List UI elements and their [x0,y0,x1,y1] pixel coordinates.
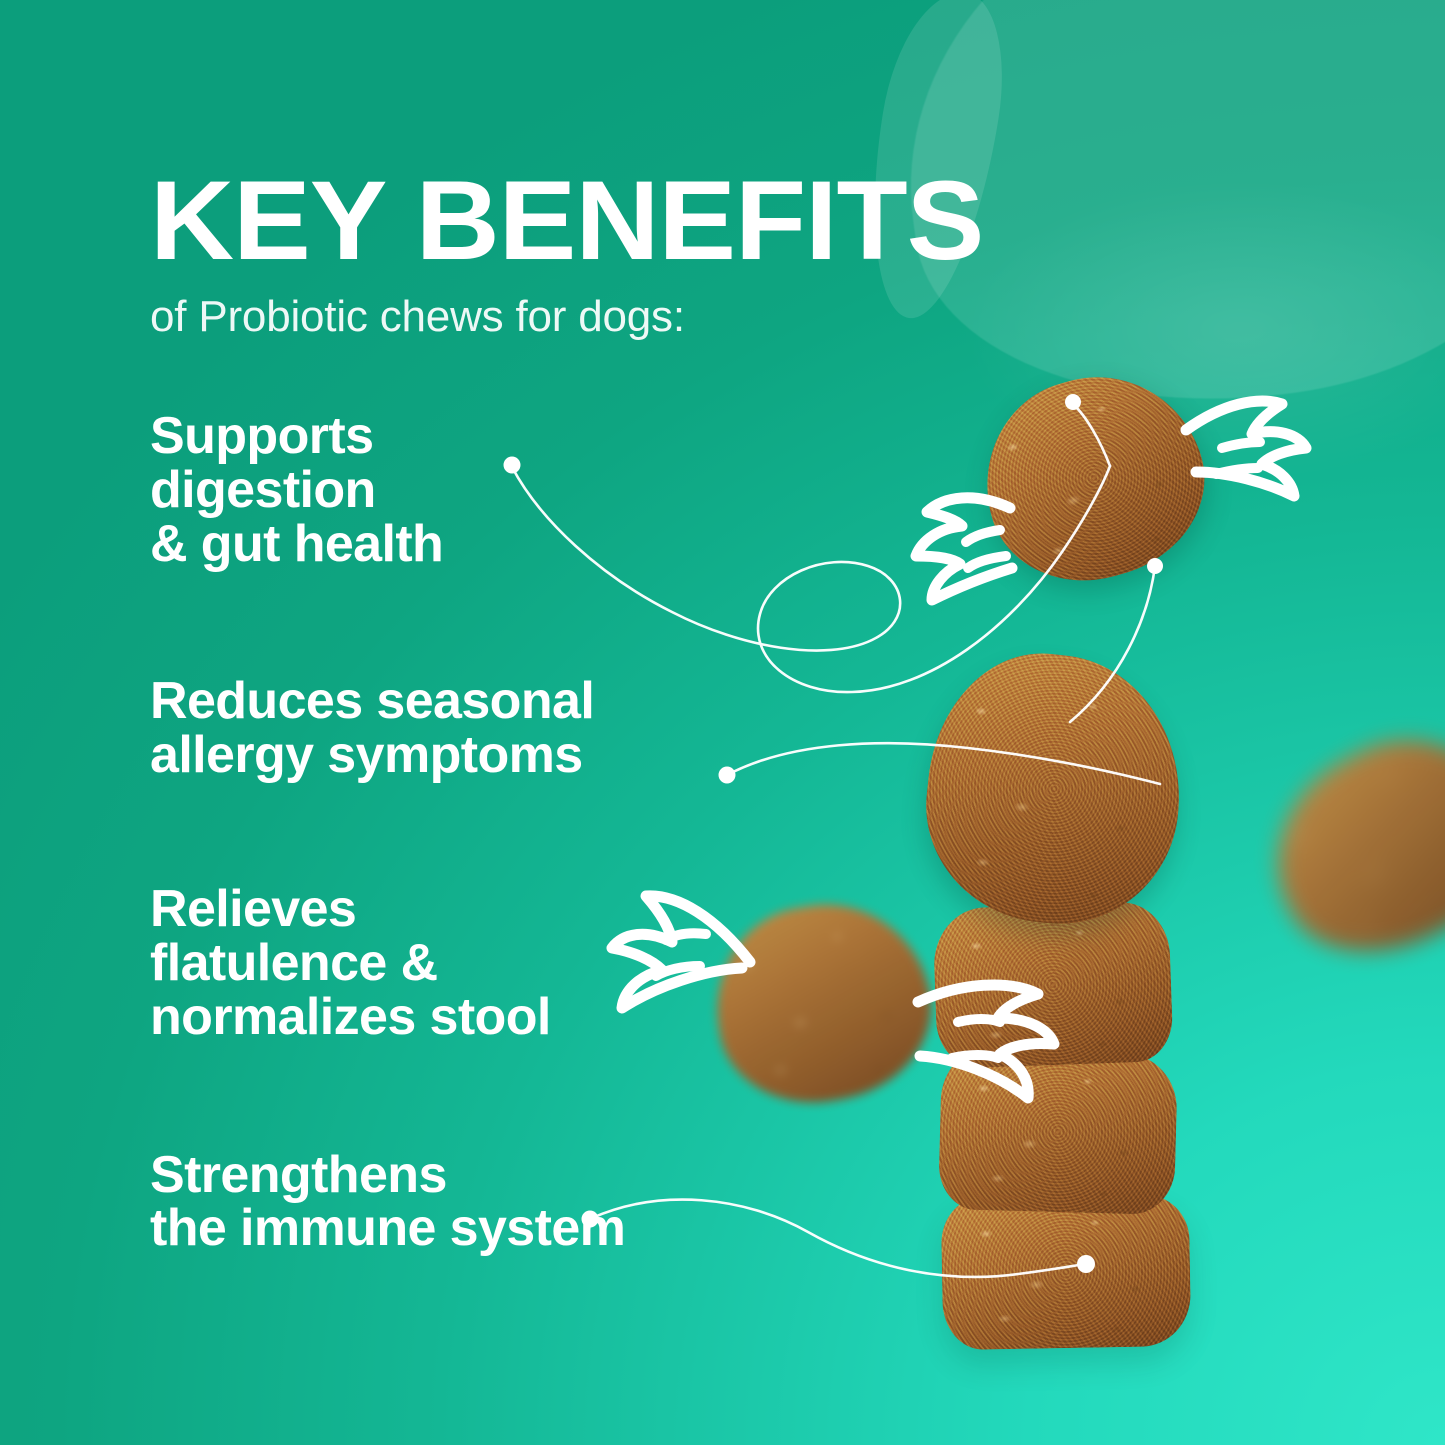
stacked-chew-4-image [941,1194,1192,1350]
benefit-item-reduces-allergy: Reduces seasonal allergy symptoms [150,675,910,783]
header-block: KEY BENEFITS of Probiotic chews for dogs… [150,168,1250,342]
benefit-line: Strengthens [150,1149,910,1203]
benefit-line: Relieves [150,883,910,937]
benefit-line: the immune system [150,1202,910,1256]
benefit-line: allergy symptoms [150,729,910,783]
page-title: KEY BENEFITS [150,168,1294,274]
infographic-canvas: KEY BENEFITS of Probiotic chews for dogs… [0,0,1445,1445]
benefit-item-relieves-flatulence: Relieves flatulence & normalizes stool [150,883,910,1044]
benefits-list: Supports digestion & gut health Reduces … [150,410,910,1256]
benefit-line: Supports [150,410,910,464]
benefit-line: & gut health [150,518,910,572]
flying-chew-top-image [962,352,1227,604]
benefit-line: flatulence & [150,937,910,991]
benefit-line: digestion [150,464,910,518]
benefit-line: Reduces seasonal [150,675,910,729]
benefit-line: normalizes stool [150,991,910,1045]
stacked-chew-1-image [915,643,1194,936]
stacked-chew-2-image [932,901,1173,1069]
benefit-item-strengthens-immune: Strengthens the immune system [150,1149,910,1257]
blurred-chew-right-edge-image [1240,703,1445,989]
benefit-item-supports-digestion: Supports digestion & gut health [150,410,910,571]
page-subtitle: of Probiotic chews for dogs: [150,292,1250,342]
stacked-chew-3-image [938,1049,1178,1215]
